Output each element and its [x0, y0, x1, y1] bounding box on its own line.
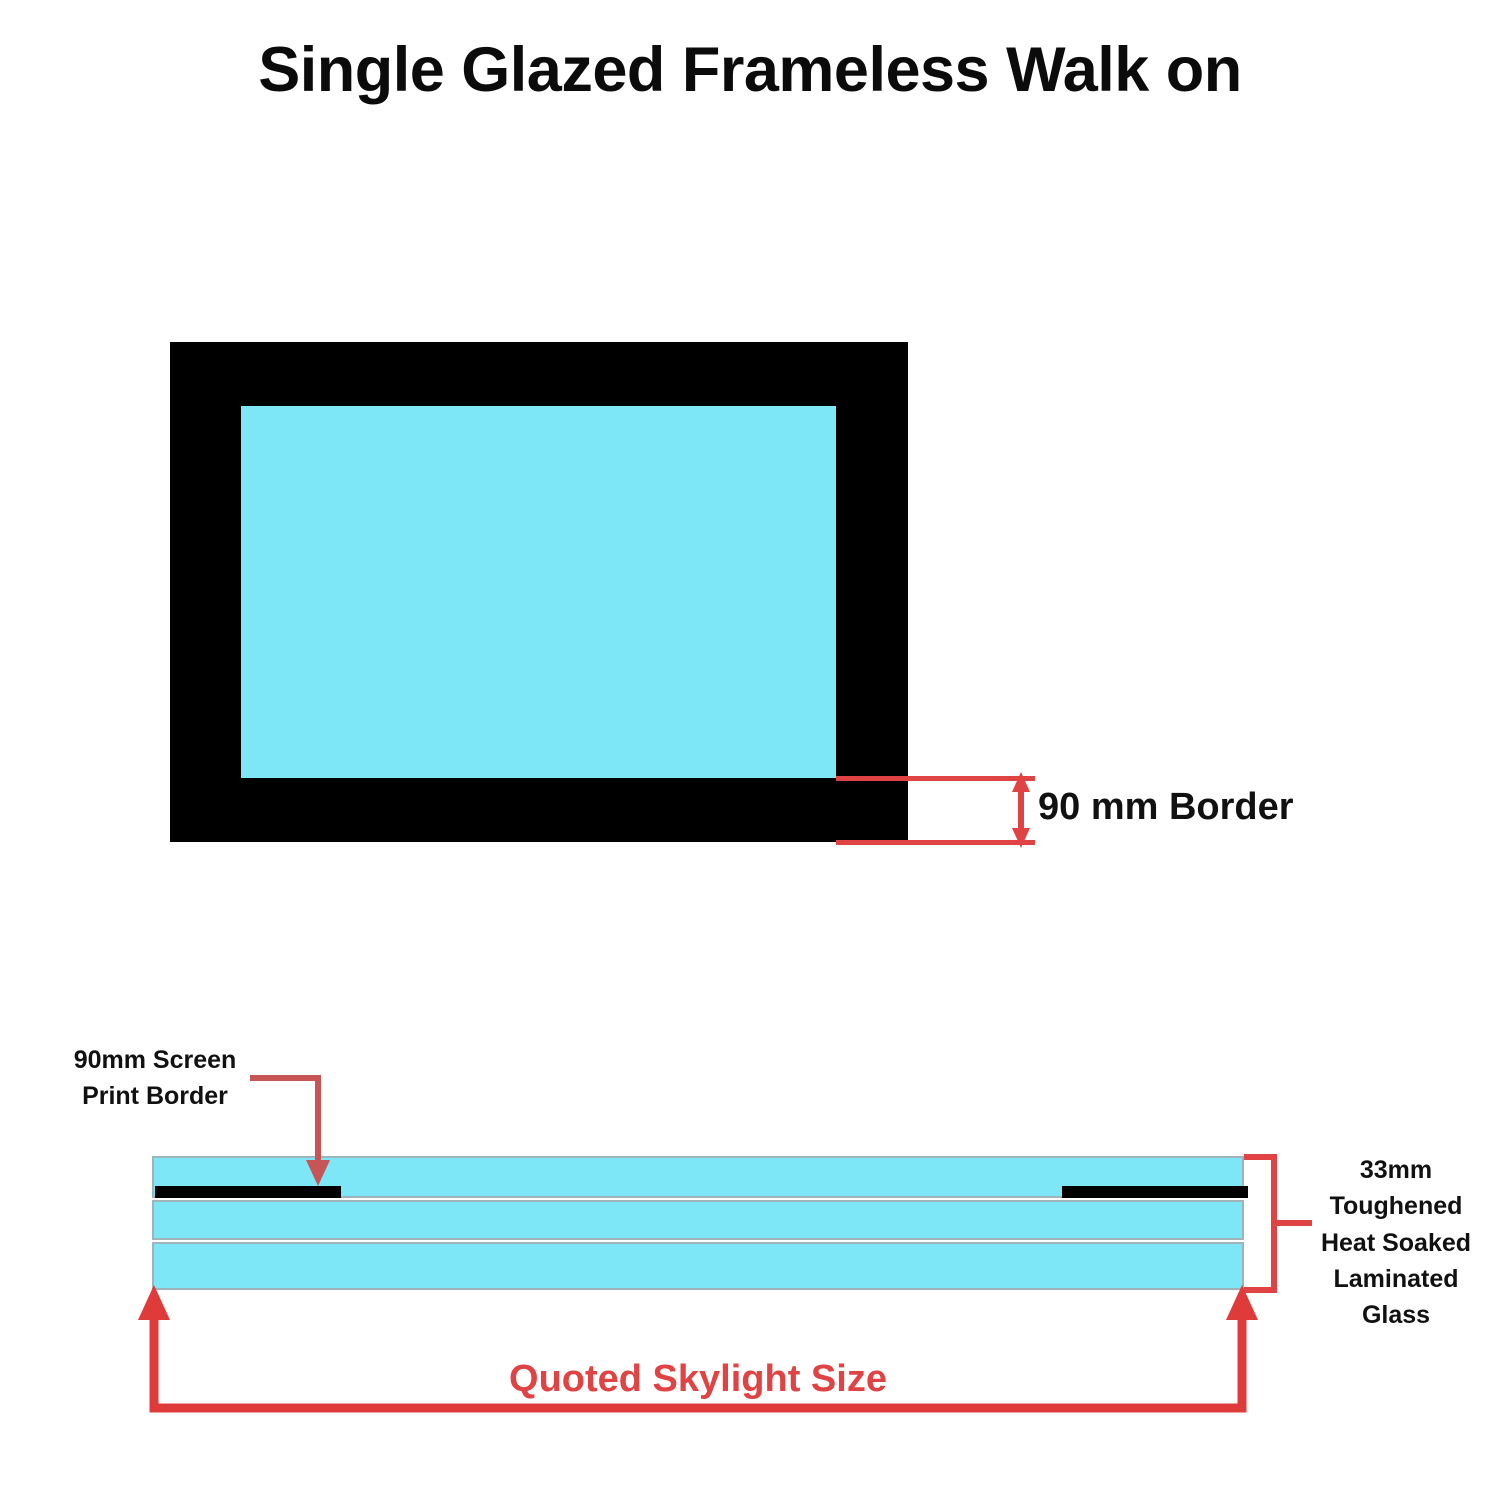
quoted-skylight-size-label: Quoted Skylight Size: [0, 1358, 1396, 1401]
section-bottom-glass-layer: [152, 1242, 1244, 1290]
screen-print-border-callout-line1: 90mm Screen: [60, 1043, 250, 1079]
screen-print-border-callout: 90mm Screen Print Border: [60, 1043, 250, 1114]
section-middle-glass-layer: [152, 1200, 1244, 1240]
border-dimension-extension-line-top: [836, 776, 1035, 781]
screen-print-border-left: [155, 1186, 341, 1198]
screen-print-border-right: [1062, 1186, 1248, 1198]
border-dimension-arrow-icon: [1012, 772, 1030, 848]
glass-spec-line1: 33mm: [1296, 1152, 1496, 1188]
screen-print-border-callout-line2: Print Border: [60, 1079, 250, 1115]
glass-spec-line4: Laminated Glass: [1296, 1261, 1496, 1334]
page-title: Single Glazed Frameless Walk on: [0, 34, 1500, 106]
glass-spec-line2: Toughened: [1296, 1188, 1496, 1224]
glass-specification-label: 33mm Toughened Heat Soaked Laminated Gla…: [1296, 1152, 1496, 1333]
border-dimension-extension-line-bottom: [836, 840, 1035, 845]
plan-view-glass-panel: [241, 406, 836, 778]
glass-spec-line3: Heat Soaked: [1296, 1225, 1496, 1261]
diagram-canvas: Single Glazed Frameless Walk on 90 mm Bo…: [0, 0, 1500, 1500]
border-dimension-label: 90 mm Border: [1038, 786, 1294, 829]
